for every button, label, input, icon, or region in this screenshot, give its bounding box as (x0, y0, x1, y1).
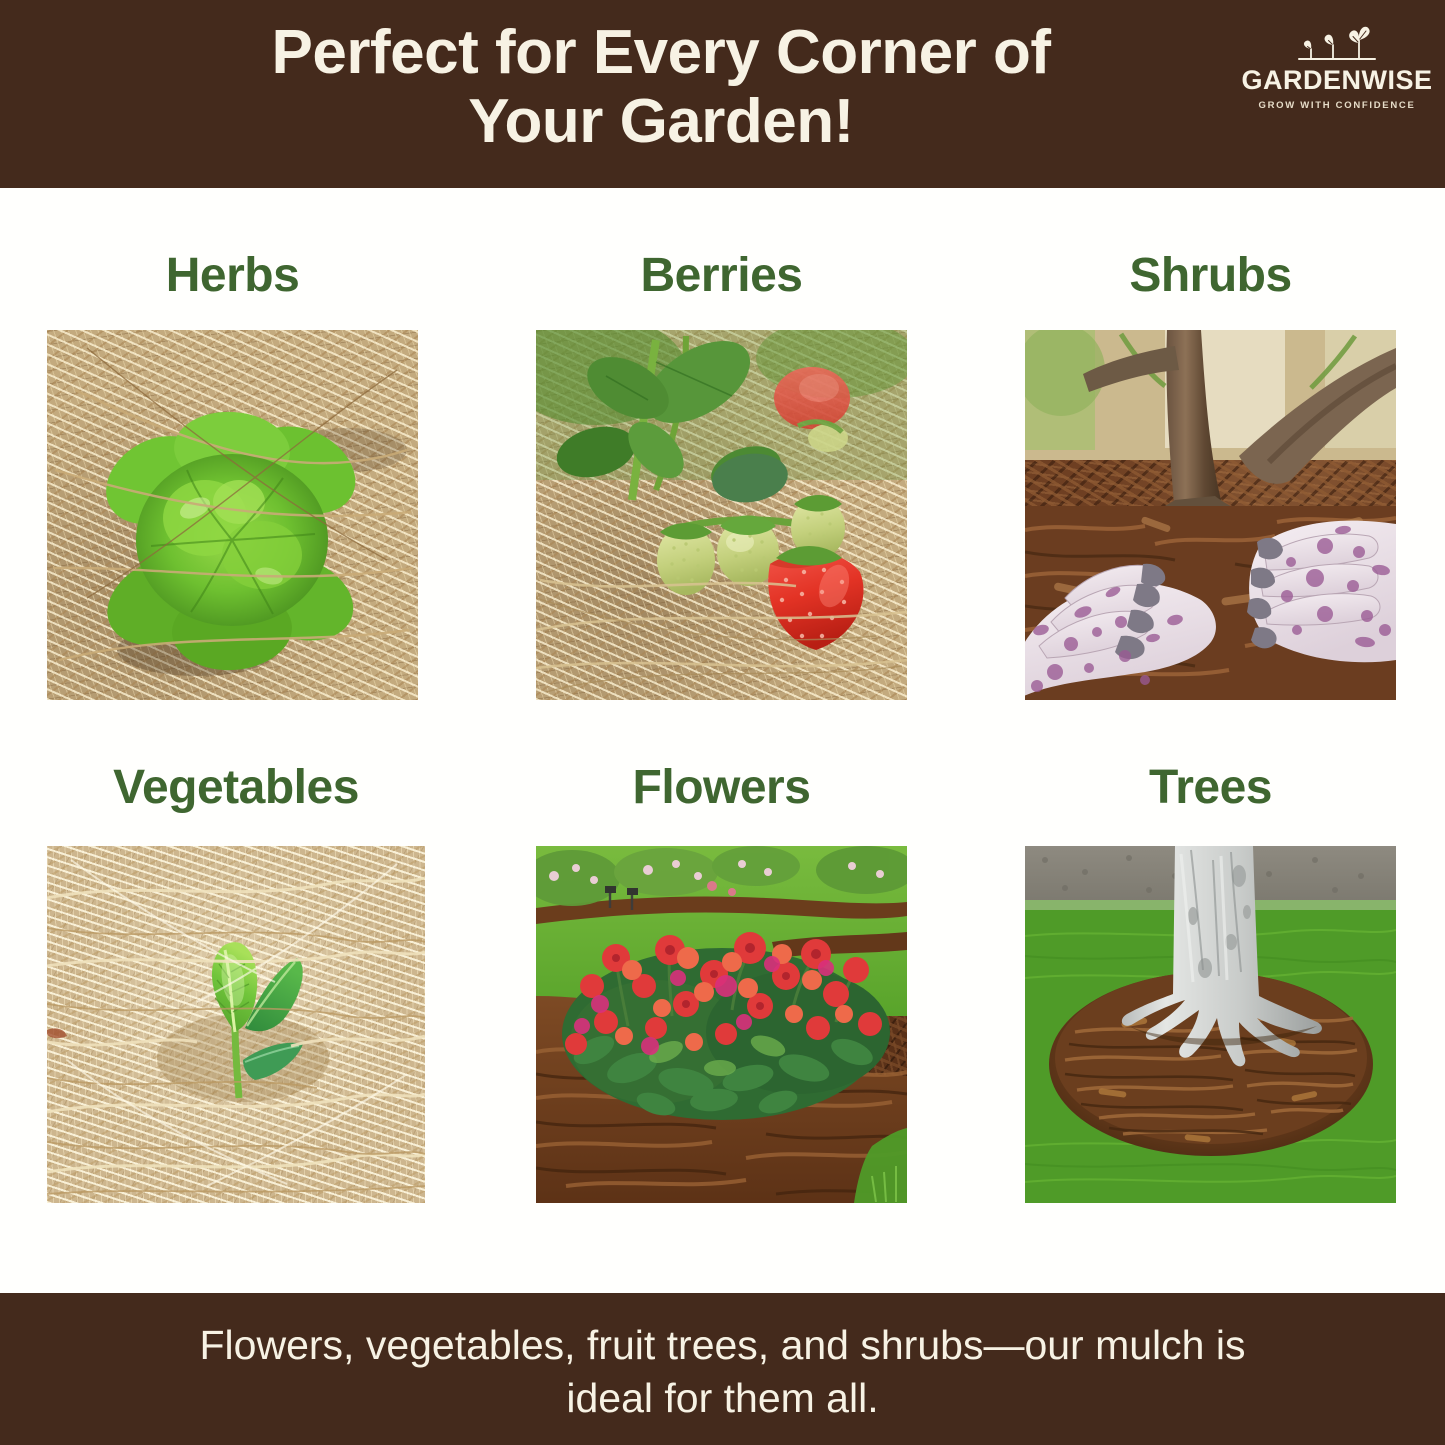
category-label-herbs: Herbs (47, 248, 418, 303)
category-label-shrubs: Shrubs (1025, 248, 1396, 303)
header-banner: Perfect for Every Corner of Your Garden! (0, 0, 1445, 188)
rose-bed-illustration (536, 846, 907, 1203)
glove-right (1247, 521, 1396, 663)
category-cell-shrubs: Shrubs (1025, 218, 1396, 730)
category-label-trees: Trees (1025, 760, 1396, 815)
category-grid: Herbs (0, 188, 1445, 1293)
vegetable-seedling-illustration (47, 846, 425, 1203)
page-title-line-1: Perfect for Every Corner of (272, 18, 1051, 87)
strawberry-plant-illustration (536, 330, 907, 700)
page-title-line-2: Your Garden! (96, 87, 1226, 156)
footer-banner: Flowers, vegetables, fruit trees, and sh… (0, 1293, 1445, 1445)
category-cell-trees: Trees (1025, 734, 1396, 1246)
photo-berries-strawberries-on-straw (536, 330, 907, 700)
category-label-vegetables: Vegetables (47, 760, 425, 815)
page-title: Perfect for Every Corner of Your Garden! (96, 18, 1226, 157)
photo-vegetables-seedling-in-straw (47, 846, 425, 1203)
herb-plant-illustration (47, 330, 418, 700)
category-label-berries: Berries (536, 248, 907, 303)
footer-tagline-line-2: ideal for them all. (90, 1372, 1355, 1425)
category-cell-berries: Berries (536, 218, 907, 730)
tree-mulch-ring-illustration (1025, 846, 1396, 1203)
photo-shrubs-gloved-hands-spreading-mulch (1025, 330, 1396, 700)
category-cell-flowers: Flowers (536, 734, 907, 1246)
brand-tagline: GROW WITH CONFIDENCE (1259, 100, 1416, 111)
photo-trees-mulch-ring-around-trunk (1025, 846, 1396, 1203)
shrub-mulching-illustration (1025, 330, 1396, 700)
infographic-page: Perfect for Every Corner of Your Garden! (0, 0, 1445, 1445)
photo-herbs-lettuce-on-pine-straw (47, 330, 418, 700)
photo-flowers-rose-bed-with-mulch (536, 846, 907, 1203)
category-cell-vegetables: Vegetables (47, 734, 425, 1246)
brand-wordmark: GARDENWISE (1241, 67, 1432, 94)
three-sprouts-icon (1289, 24, 1385, 66)
brand-logo: GARDENWISE GROW WITH CONFIDENCE (1241, 24, 1433, 120)
category-label-flowers: Flowers (536, 760, 907, 815)
footer-tagline-line-1: Flowers, vegetables, fruit trees, and sh… (200, 1322, 1246, 1368)
category-cell-herbs: Herbs (47, 218, 418, 730)
footer-tagline: Flowers, vegetables, fruit trees, and sh… (90, 1319, 1355, 1426)
